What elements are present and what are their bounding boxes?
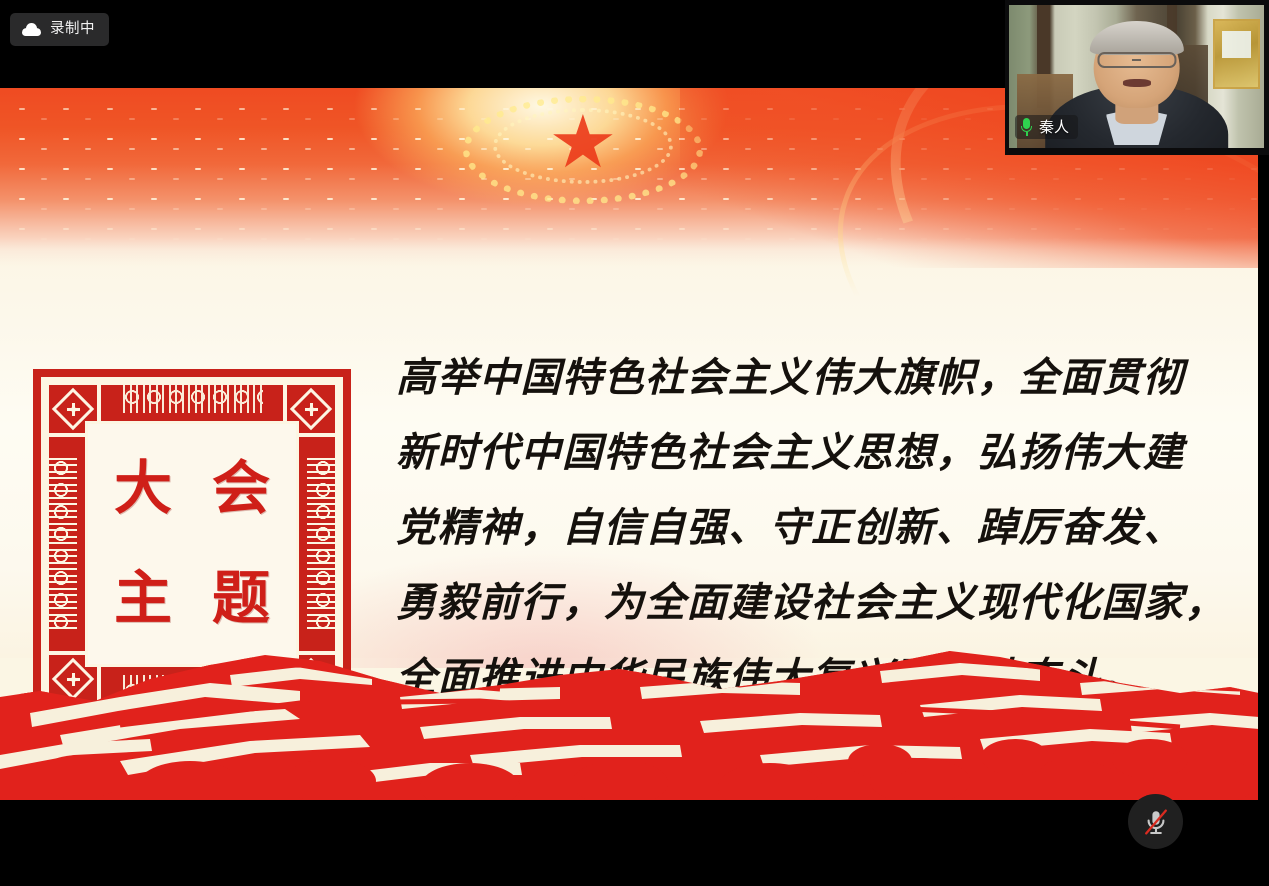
microphone-muted-icon: [1141, 807, 1171, 837]
seal-pattern-left: [45, 457, 77, 631]
seal-char-1: 大: [114, 460, 172, 518]
mute-button[interactable]: [1128, 794, 1183, 849]
participant-nameplate: 秦人: [1015, 115, 1078, 139]
video-wall-hanging: [1213, 19, 1260, 89]
seal-char-4: 题: [212, 570, 270, 628]
slide-text-line-1: 高举中国特色社会主义伟大旗帜，全面贯彻: [396, 340, 1228, 415]
slide-text-line-4: 勇毅前行，为全面建设社会主义现代化国家，: [396, 565, 1228, 640]
participant-name: 秦人: [1039, 120, 1069, 135]
slide-text-line-3: 党精神，自信自强、守正创新、踔厉奋发、: [396, 490, 1228, 565]
bottom-toolbar: [0, 800, 1269, 886]
video-feed: 秦人: [1009, 5, 1264, 148]
self-view-video-tile[interactable]: 秦人: [1005, 0, 1269, 155]
microphone-icon: [1021, 118, 1032, 136]
video-person-mouth: [1122, 79, 1150, 86]
shared-slide[interactable]: 大 会 主 题 高举中国特色社会主义伟大旗帜，全面贯彻 新时代中国特色社会主义思…: [0, 88, 1259, 800]
meeting-screen: 录制中 大 会: [0, 0, 1269, 886]
seal-pattern-right: [307, 457, 339, 631]
slide-text-line-2: 新时代中国特色社会主义思想，弘扬伟大建: [396, 415, 1228, 490]
seal-char-3: 主: [114, 570, 172, 628]
great-wall-papercut-decoration: [0, 635, 1259, 800]
cloud-icon: [22, 23, 41, 36]
video-person-glasses: [1097, 52, 1176, 68]
recording-badge: 录制中: [10, 13, 109, 46]
recording-label: 录制中: [50, 22, 95, 37]
seal-pattern-top: [121, 381, 263, 413]
slide-right-letterbox: [1258, 88, 1269, 800]
seal-char-2: 会: [212, 460, 270, 518]
seal-inner-panel: 大 会 主 题: [85, 421, 299, 667]
